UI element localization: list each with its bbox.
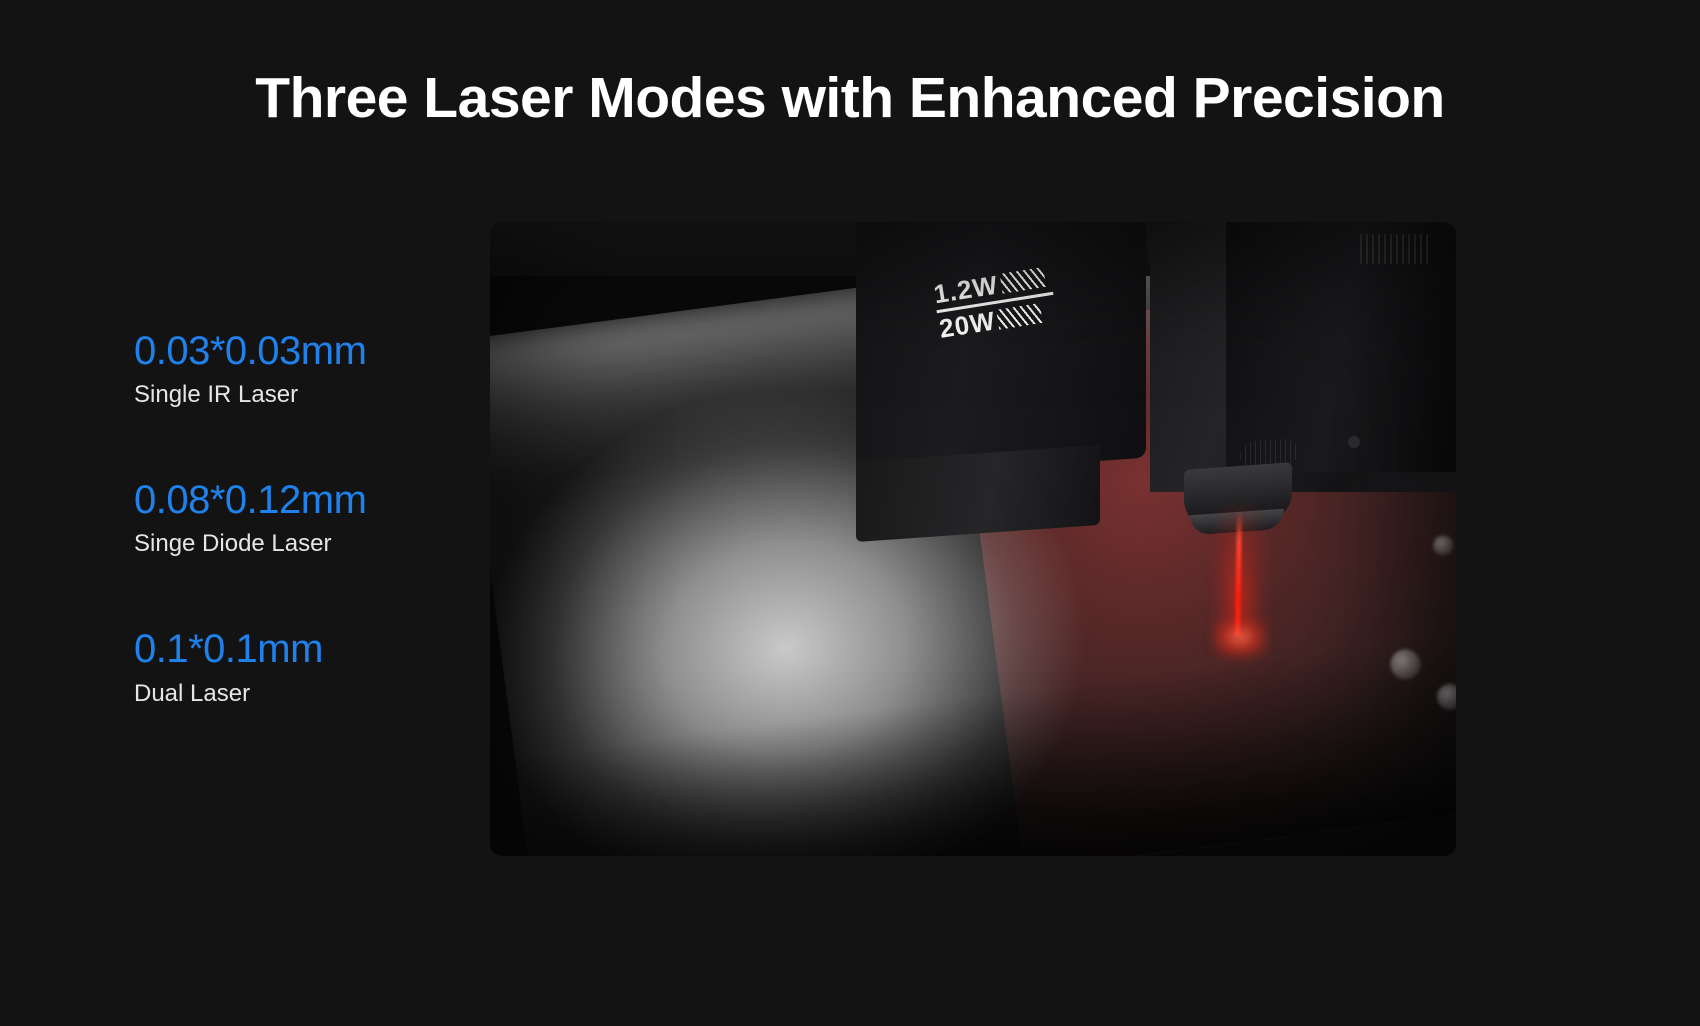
spec-item-single-ir-laser: 0.03*0.03mm Single IR Laser bbox=[134, 330, 464, 413]
spec-item-dual-laser: 0.1*0.1mm Dual Laser bbox=[134, 628, 464, 711]
bolt-icon bbox=[1348, 436, 1360, 448]
laser-head-housing bbox=[856, 222, 1146, 478]
page-title: Three Laser Modes with Enhanced Precisio… bbox=[0, 66, 1700, 132]
spec-label: Dual Laser bbox=[134, 676, 464, 712]
spec-value: 0.08*0.12mm bbox=[134, 479, 464, 522]
spec-value: 0.1*0.1mm bbox=[134, 628, 464, 671]
product-feature-page: Three Laser Modes with Enhanced Precisio… bbox=[0, 0, 1700, 1026]
spec-label: Singe Diode Laser bbox=[134, 526, 464, 562]
spec-list: 0.03*0.03mm Single IR Laser 0.08*0.12mm … bbox=[134, 330, 464, 712]
spec-label: Single IR Laser bbox=[134, 377, 464, 413]
spec-value: 0.03*0.03mm bbox=[134, 330, 464, 373]
hatch-pattern-icon bbox=[997, 303, 1044, 330]
machine-side-panel bbox=[1226, 222, 1456, 472]
vent-grille-icon bbox=[1360, 234, 1432, 264]
product-photo: 1.2W 20W bbox=[490, 222, 1456, 856]
laser-burn-spot bbox=[1214, 620, 1266, 654]
hatch-pattern-icon bbox=[999, 267, 1046, 294]
laser-head-face bbox=[856, 445, 1100, 542]
spec-item-single-diode-laser: 0.08*0.12mm Singe Diode Laser bbox=[134, 479, 464, 562]
